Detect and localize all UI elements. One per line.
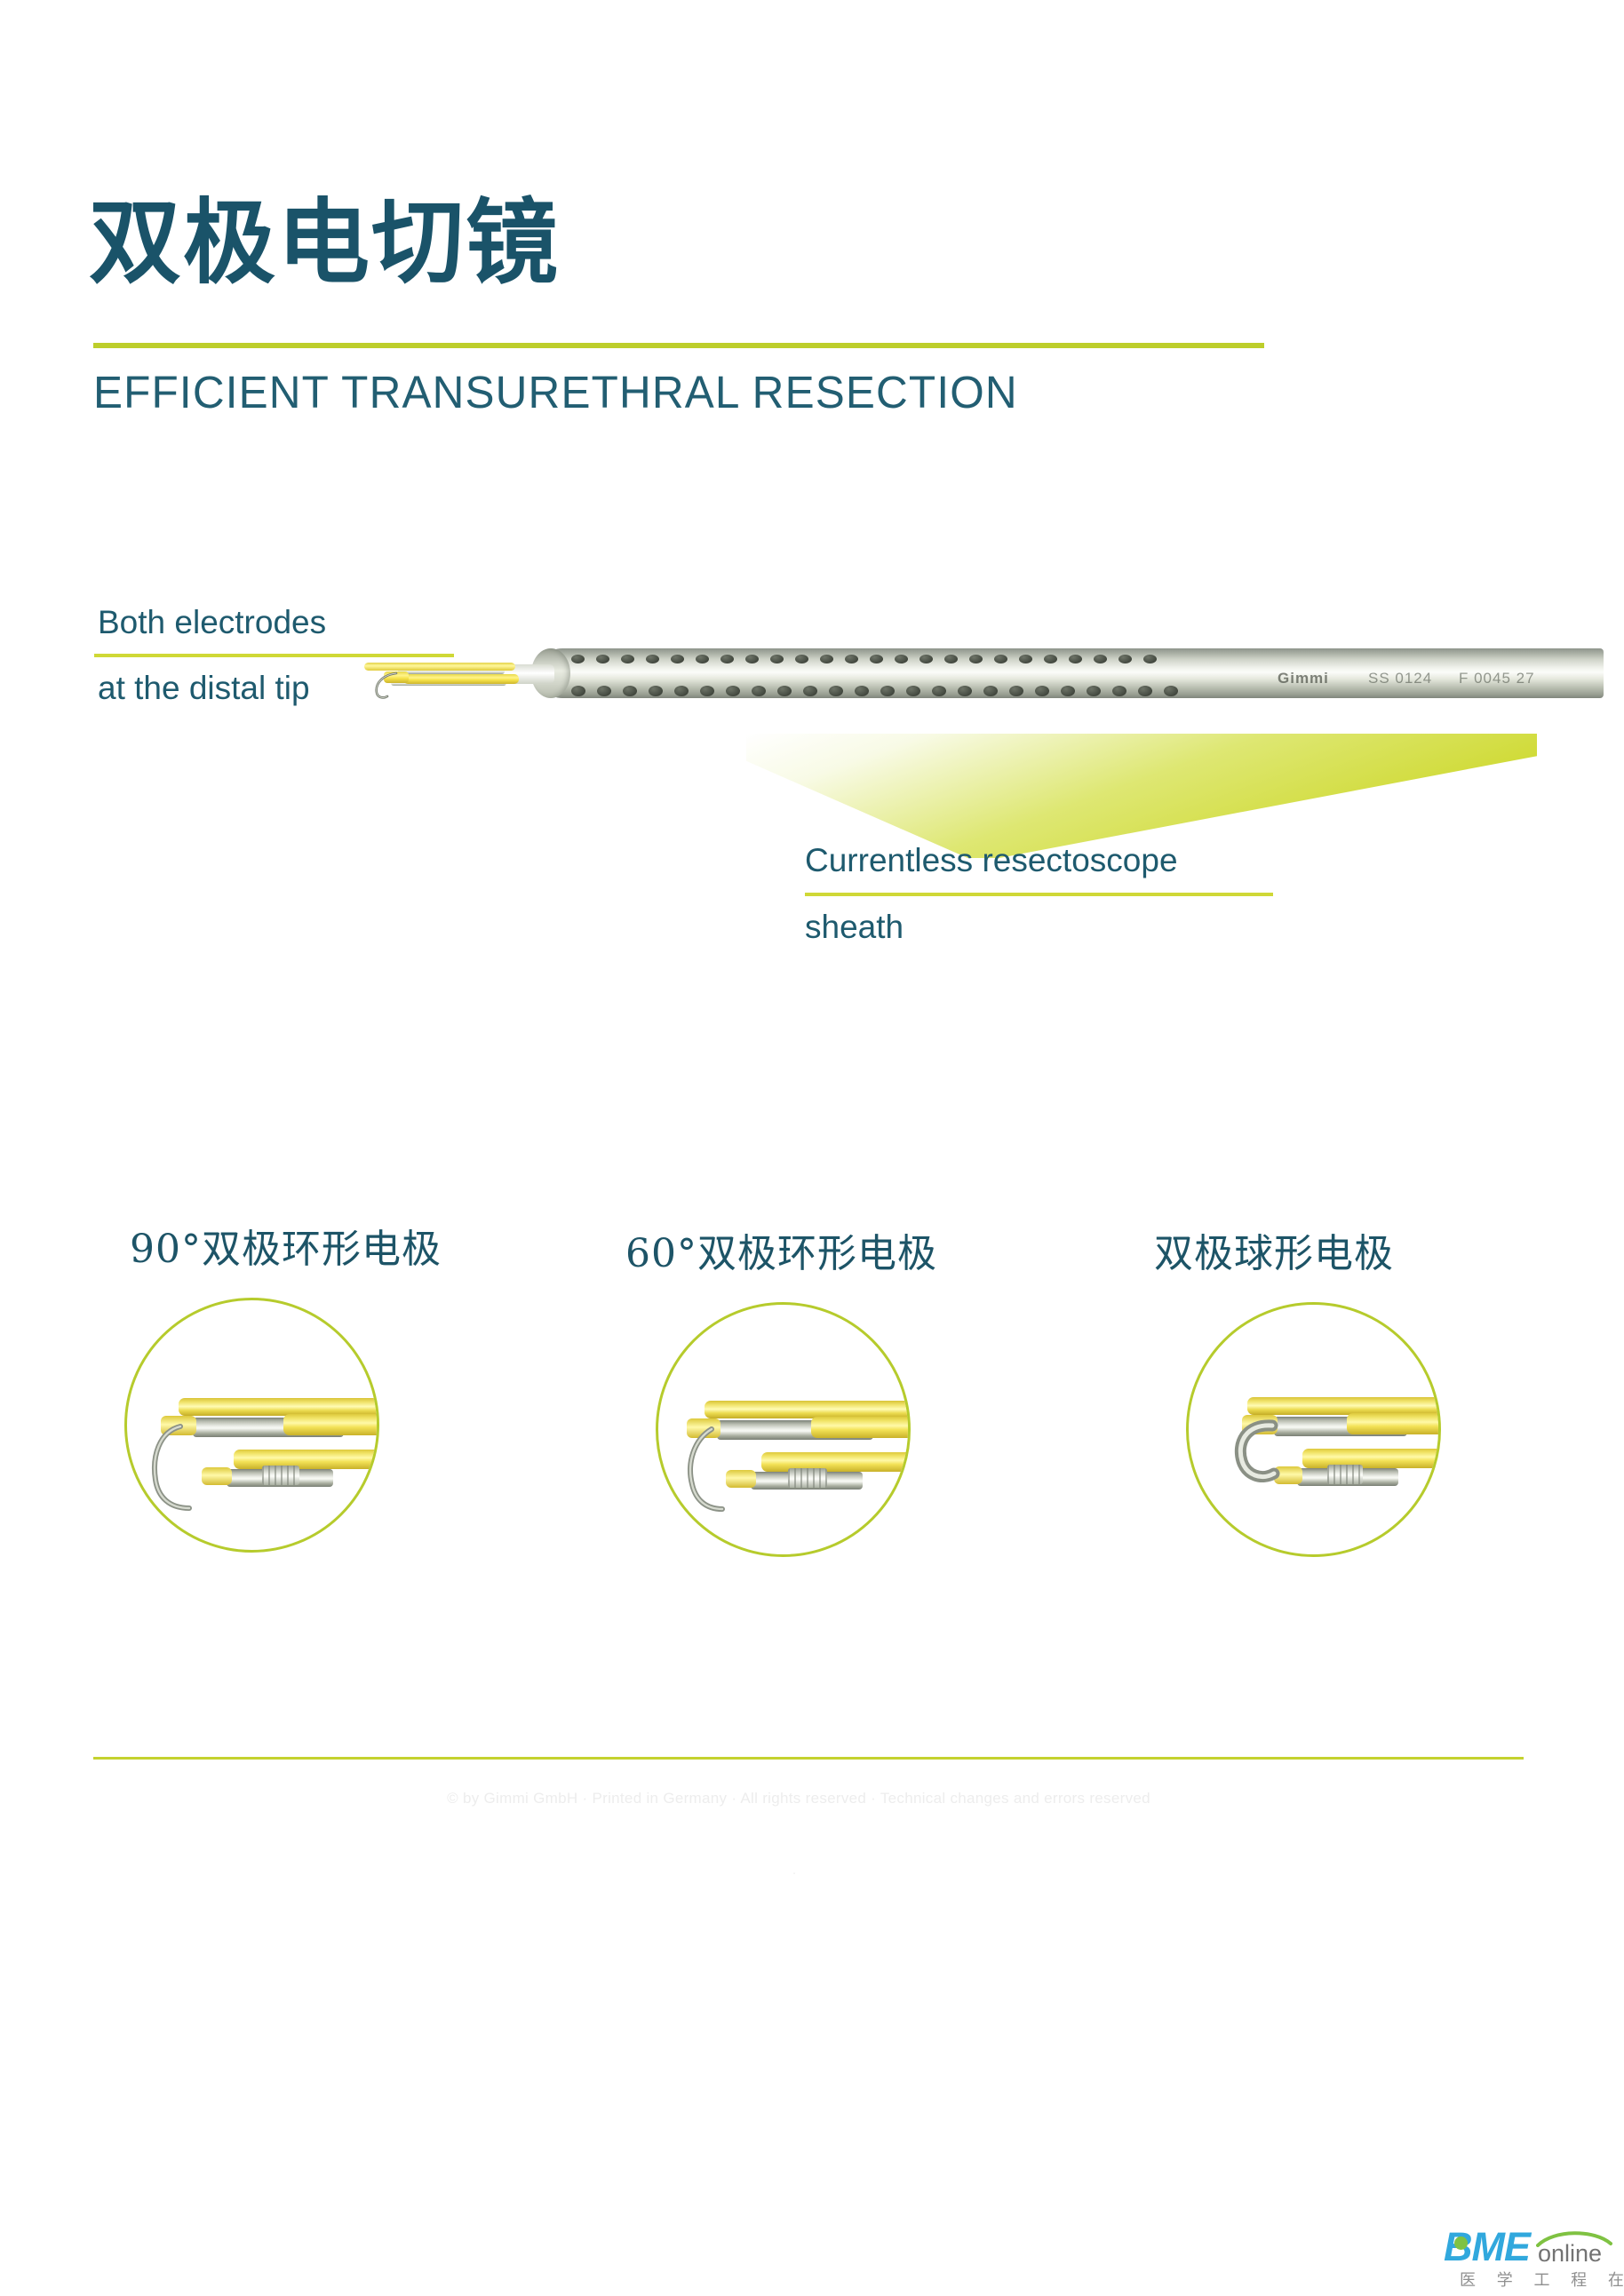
bipolar-resectoscope-sheath-photo: Gimmi SS 0124 F 0045 27 (364, 622, 1604, 719)
loop-wire-60-icon (683, 1424, 754, 1520)
callout-line-1: Both electrodes (98, 606, 467, 639)
bme-online-logo: BME online 医 学 工 程 在 线 (1444, 2219, 1612, 2288)
upper-yellow-sleeve (811, 1417, 911, 1438)
electrode-caption: 60°双极环形电极 (625, 1235, 937, 1274)
brochure-page: 双极电切镜 EFFICIENT TRANSURETHRAL RESECTION (0, 0, 1624, 2296)
upper-yellow-sleeve (1347, 1413, 1441, 1434)
electrode-ball: 双极球形电极 (1142, 1235, 1441, 1557)
callout-both-electrodes: Both electrodes at the distal tip (94, 606, 467, 704)
page-subtitle: EFFICIENT TRANSURETHRAL RESECTION (93, 366, 1018, 419)
title-divider (93, 343, 1264, 348)
page-number: · (0, 1865, 1624, 1880)
electrode-caption: 双极球形电极 (1154, 1235, 1441, 1274)
electrode-detail-circle (124, 1298, 379, 1553)
callout-line-1: Currentless resectoscope (805, 844, 1267, 877)
electrode-detail-circle (1186, 1302, 1441, 1557)
callout-line-2: sheath (805, 910, 1267, 943)
lower-yellow-tube (1302, 1449, 1441, 1468)
callout-rule (805, 893, 1273, 896)
ball-electrode-icon (1231, 1417, 1295, 1491)
lower-yellow-tube (234, 1450, 379, 1469)
electrode-90-loop: 90°双极环形电极 (124, 1230, 442, 1553)
knurled-connector (1327, 1465, 1363, 1484)
callout-rule (94, 654, 454, 657)
sheath-perforation-row-top (571, 655, 1157, 663)
electrode-caption: 90°双极环形电极 (130, 1230, 442, 1269)
shaft-etching-brand: Gimmi (1278, 670, 1329, 687)
copyright-text: © by Gimmi GmbH · Printed in Germany · A… (0, 1790, 1624, 1807)
knurled-connector (788, 1468, 827, 1488)
callout-currentless-sheath: Currentless resectoscope sheath (805, 844, 1267, 943)
loop-wire-90-icon (150, 1421, 225, 1519)
upper-yellow-tube (1247, 1397, 1441, 1415)
page-title: 双极电切镜 (89, 191, 560, 294)
sheath-perforation-row-bottom (571, 686, 1178, 696)
logo-chinese-name: 医 学 工 程 在 线 (1460, 2268, 1624, 2291)
logo-subword: online (1538, 2240, 1602, 2268)
upper-yellow-sleeve (283, 1414, 379, 1435)
shaft-etching-ref: F 0045 27 (1459, 670, 1535, 687)
green-pointer-wedge (746, 734, 1537, 858)
electrode-60-loop: 60°双极环形电极 (622, 1235, 937, 1557)
callout-line-2: at the distal tip (98, 671, 467, 704)
upper-yellow-tube (179, 1398, 379, 1416)
knurled-connector (262, 1466, 299, 1485)
electrode-detail-circle (656, 1302, 911, 1557)
lower-yellow-tube (761, 1452, 911, 1472)
logo-green-dot-icon (1454, 2236, 1468, 2250)
shaft-etching-model: SS 0124 (1368, 670, 1432, 687)
footer-divider (93, 1757, 1524, 1760)
upper-yellow-tube (705, 1401, 911, 1418)
